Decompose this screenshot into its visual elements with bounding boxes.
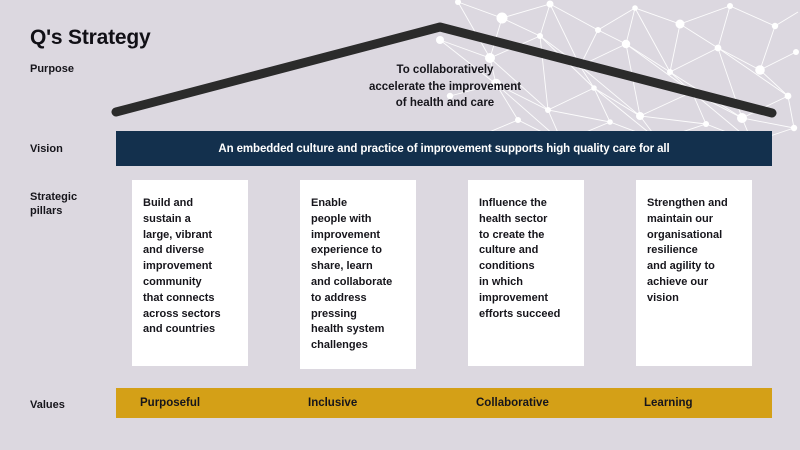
pillar-card: Strengthen and maintain our organisation… <box>636 180 752 366</box>
pillar-card: Influence the health sector to create th… <box>468 180 584 366</box>
strategy-slide: Q's Strategy Purpose Vision Strategic pi… <box>0 0 800 450</box>
vision-bar: An embedded culture and practice of impr… <box>116 131 772 166</box>
value-label: Inclusive <box>308 388 357 418</box>
pillar-card: Enable people with improvement experienc… <box>300 180 416 369</box>
pillar-text: Influence the health sector to create th… <box>479 196 573 322</box>
value-label: Learning <box>644 388 693 418</box>
purpose-statement: To collaboratively accelerate the improv… <box>320 62 570 112</box>
pillar-card: Build and sustain a large, vibrant and d… <box>132 180 248 366</box>
row-label-values: Values <box>30 398 65 412</box>
pillar-text: Strengthen and maintain our organisation… <box>647 196 741 307</box>
vision-statement: An embedded culture and practice of impr… <box>218 143 669 155</box>
pillar-text: Enable people with improvement experienc… <box>311 196 405 354</box>
row-label-purpose: Purpose <box>30 62 74 76</box>
row-label-vision: Vision <box>30 142 63 156</box>
value-label: Collaborative <box>476 388 549 418</box>
page-title: Q's Strategy <box>30 26 150 50</box>
values-bar: Purposeful Inclusive Collaborative Learn… <box>116 388 772 418</box>
value-label: Purposeful <box>140 388 200 418</box>
row-label-strategic-pillars: Strategic pillars <box>30 190 77 218</box>
pillar-text: Build and sustain a large, vibrant and d… <box>143 196 237 338</box>
